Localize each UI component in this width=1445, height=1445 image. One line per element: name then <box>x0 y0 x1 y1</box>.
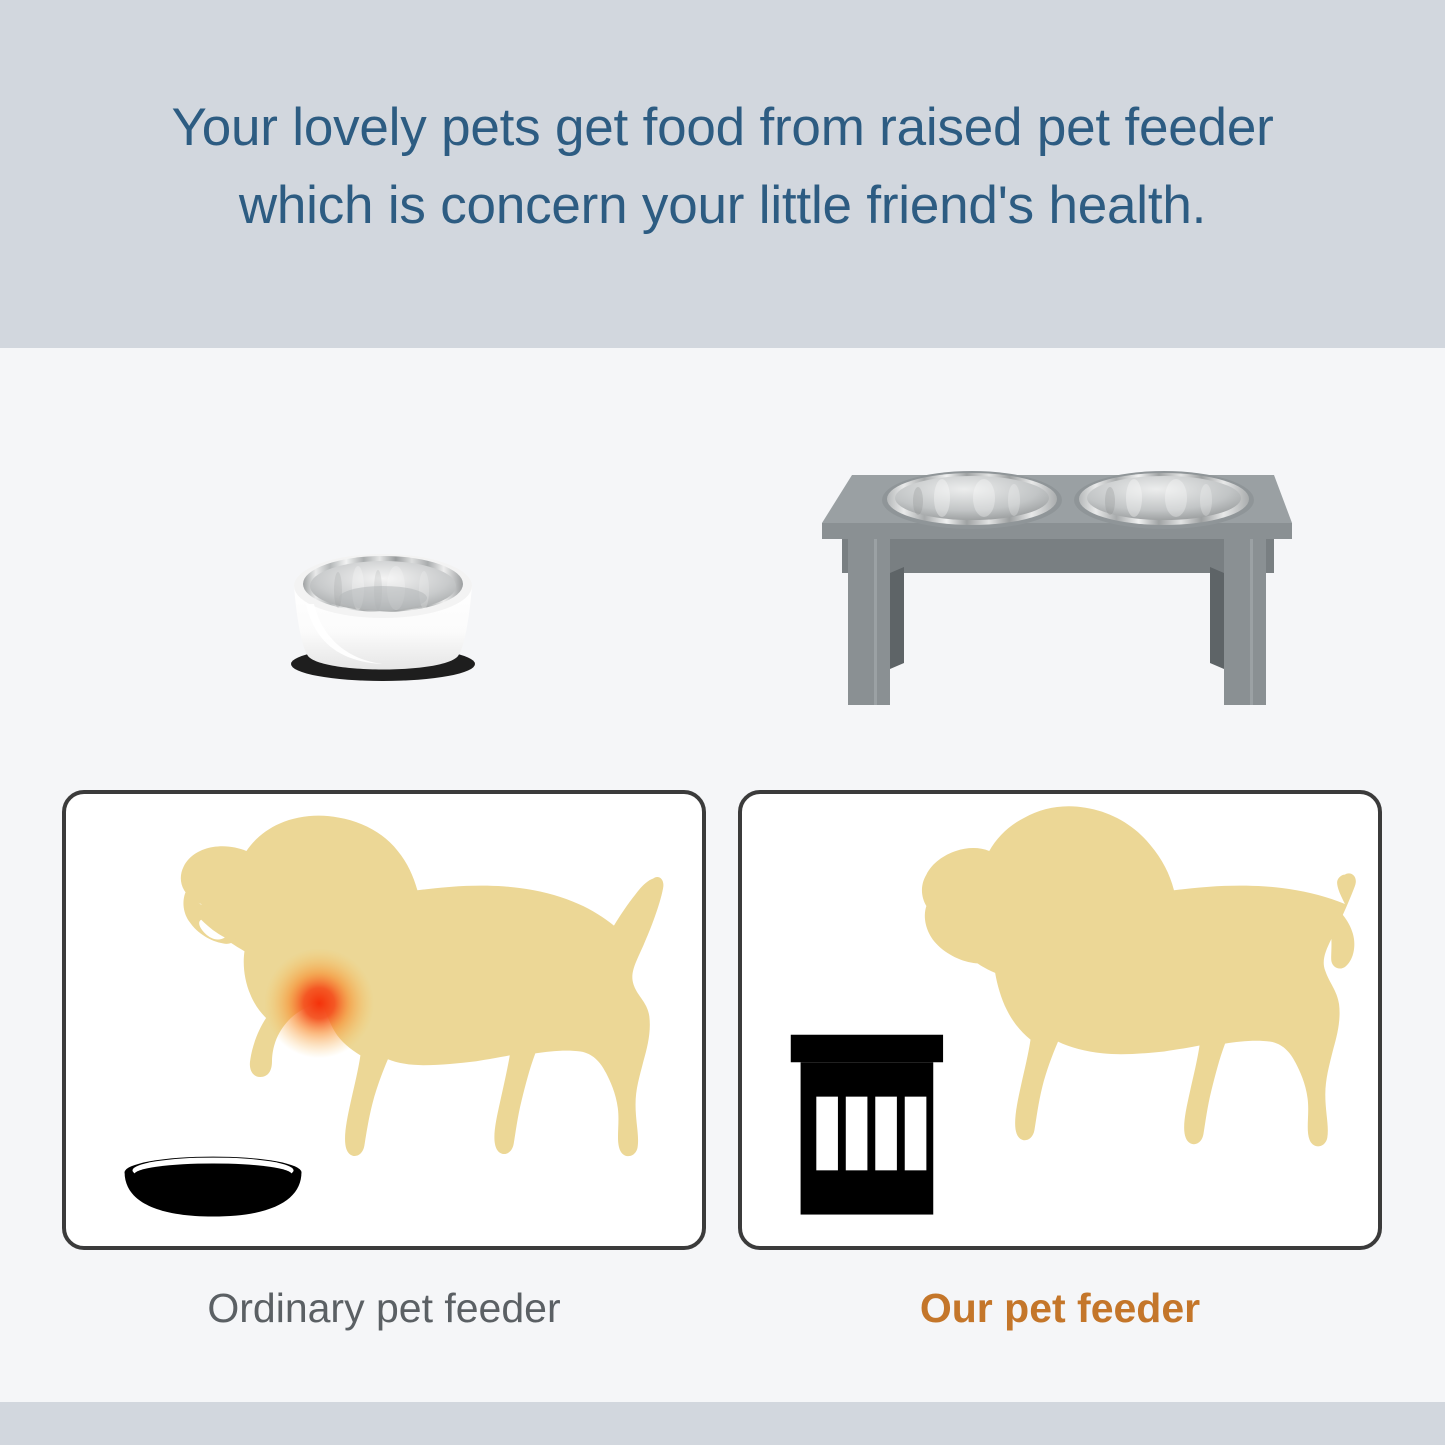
feeder-icon-slot-1 <box>816 1097 838 1171</box>
feeder-leg-highlight-left <box>874 539 877 705</box>
feeder-apron <box>842 539 1274 573</box>
ordinary-bowl-photo <box>278 542 488 687</box>
headline-line-1: Your lovely pets get food from raised pe… <box>43 89 1403 167</box>
ordinary-bowl-illustration <box>278 542 488 687</box>
feeder-top-front-edge <box>822 523 1292 539</box>
headline-banner: Your lovely pets get food from raised pe… <box>0 0 1445 348</box>
feeder-left-leg-shadow <box>890 567 904 669</box>
feeder-icon-top-plate <box>791 1035 943 1063</box>
comparison-panel-ordinary <box>62 790 706 1250</box>
ordinary-scene-illustration <box>66 794 702 1246</box>
feeder-left-front-leg <box>848 539 890 705</box>
our-feeder-scene-illustration <box>742 794 1378 1246</box>
feeder-icon-slot-4 <box>905 1097 927 1171</box>
raised-feeder-icon <box>791 1035 943 1215</box>
feeder-right-leg-shadow <box>1210 567 1224 669</box>
raised-feeder-photo <box>812 445 1302 710</box>
comparison-panel-ours <box>738 790 1382 1250</box>
page-title: Your lovely pets get food from raised pe… <box>43 89 1403 260</box>
product-infographic: Your lovely pets get food from raised pe… <box>0 0 1445 1445</box>
feeder-icon-slot-3 <box>875 1097 897 1171</box>
headline-line-2: which is concern your little friend's he… <box>43 167 1403 245</box>
caption-ordinary-pet-feeder: Ordinary pet feeder <box>62 1285 706 1332</box>
raised-feeder-illustration <box>812 445 1302 710</box>
caption-our-pet-feeder: Our pet feeder <box>738 1285 1382 1332</box>
feeder-icon-slot-2 <box>846 1097 868 1171</box>
floor-bowl <box>125 1157 302 1217</box>
feeder-right-front-leg <box>1224 539 1266 705</box>
floor-bowl-interior-shadow <box>134 1163 291 1185</box>
dog-silhouette-standing <box>922 806 1356 1146</box>
pain-spot-indicator <box>264 948 374 1058</box>
footer-banner <box>0 1402 1445 1445</box>
dog-silhouette-bending <box>181 816 664 1157</box>
feeder-leg-highlight-right <box>1250 539 1253 705</box>
bowl-bottom-shade <box>339 586 427 610</box>
